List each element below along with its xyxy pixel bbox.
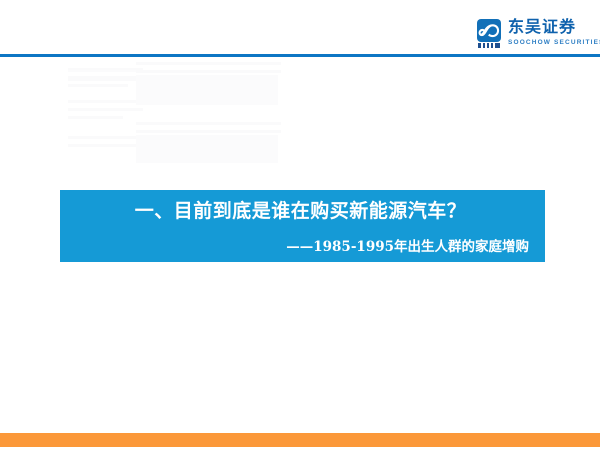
presentation-slide: 东吴证券 SOOCHOW SECURITIES 一、目前到底是谁在购买新能源汽车… [0,0,600,450]
company-logo: 东吴证券 SOOCHOW SECURITIES [477,18,592,52]
header-divider-rule [0,54,600,57]
logo-mark-base [478,43,500,48]
section-title-main: 一、目前到底是谁在购买新能源汽车？ [60,196,535,226]
section-title-banner: 一、目前到底是谁在购买新能源汽车？ ——1985-1995年出生人群的家庭增购 [60,190,545,262]
footer-accent-bar [0,433,600,447]
logo-text-block: 东吴证券 SOOCHOW SECURITIES [508,18,600,47]
section-title-subtitle: ——1985-1995年出生人群的家庭增购 [60,236,535,258]
soochow-logo-mark-icon [477,19,503,45]
logo-company-name-cn: 东吴证券 [508,18,600,36]
logo-company-name-en: SOOCHOW SECURITIES [508,38,600,47]
logo-loop-glyph-icon [477,19,501,42]
